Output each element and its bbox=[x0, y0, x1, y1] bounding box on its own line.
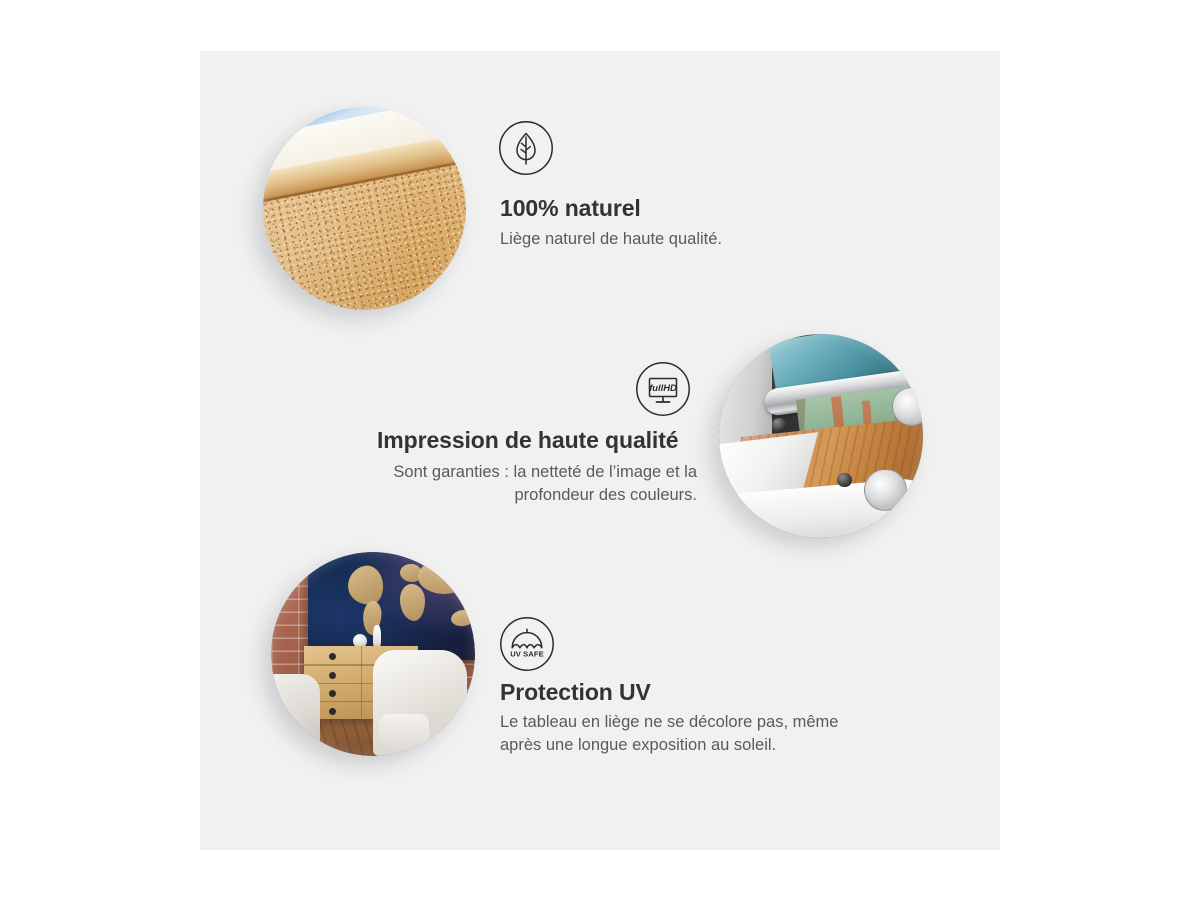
feature-description-line: profondeur des couleurs. bbox=[297, 484, 697, 507]
feature-description-line: Le tableau en liège ne se décolore pas, … bbox=[500, 711, 920, 734]
uv-safe-icon-label: UV SAFE bbox=[510, 649, 544, 658]
room-world-map-photo bbox=[271, 552, 475, 756]
leaf-icon bbox=[498, 120, 554, 176]
uv-safe-umbrella-icon: UV SAFE bbox=[499, 616, 555, 672]
feature-heading-natural: 100% naturel bbox=[500, 196, 641, 221]
feature-description-print-quality: Sont garanties : la netteté de l’image e… bbox=[297, 461, 697, 508]
fullhd-monitor-icon: fullHD bbox=[635, 361, 691, 417]
infographic-stage: 100% naturel Liège naturel de haute qual… bbox=[0, 0, 1200, 900]
large-format-printer-photo bbox=[719, 334, 923, 538]
feature-description-line: après une longue exposition au soleil. bbox=[500, 734, 920, 757]
feature-description-line: Sont garanties : la netteté de l’image e… bbox=[297, 461, 697, 484]
fullhd-icon-label: fullHD bbox=[649, 382, 677, 393]
cork-texture-photo bbox=[263, 107, 466, 310]
feature-description-uv-protection: Le tableau en liège ne se décolore pas, … bbox=[500, 711, 920, 758]
feature-heading-print-quality: Impression de haute qualité bbox=[377, 428, 678, 453]
feature-description-natural: Liège naturel de haute qualité. bbox=[500, 228, 900, 251]
feature-heading-uv-protection: Protection UV bbox=[500, 680, 651, 705]
